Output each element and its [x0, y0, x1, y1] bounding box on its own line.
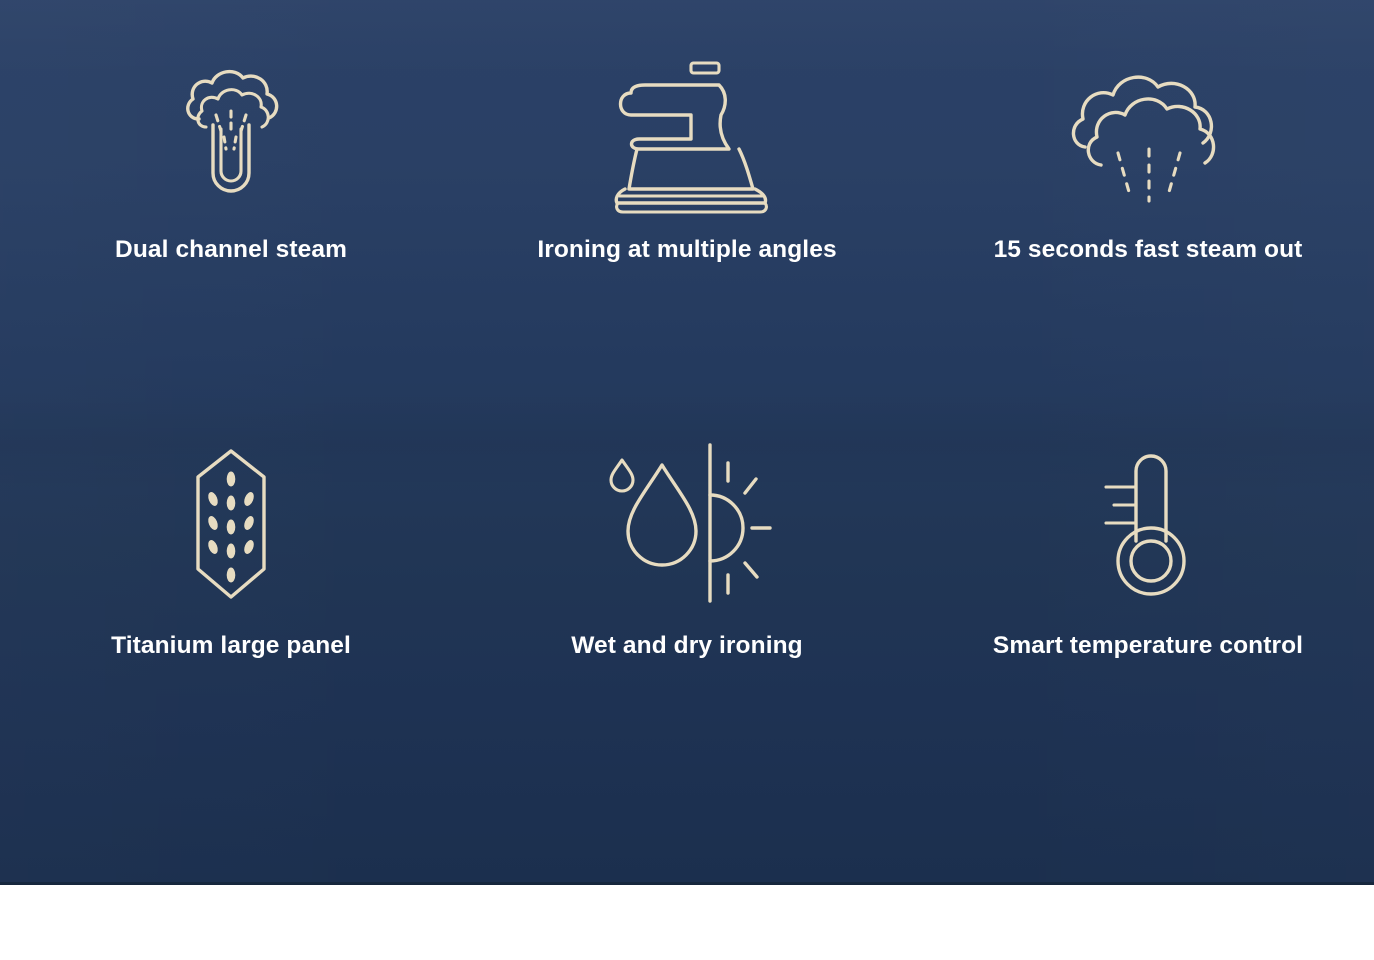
- thermometer-icon: [1048, 440, 1248, 610]
- bottom-white-strip: [0, 885, 1374, 960]
- feature-label: Dual channel steam: [115, 236, 347, 264]
- feature-item-titanium-large-panel[interactable]: Titanium large panel: [0, 440, 458, 832]
- feature-label: Ironing at multiple angles: [537, 236, 836, 264]
- feature-panel: Dual channel steam: [0, 0, 1374, 885]
- steam-head-icon: [131, 48, 331, 218]
- droplet-sun-icon: [587, 440, 787, 610]
- feature-item-ironing-multiple-angles[interactable]: Ironing at multiple angles: [458, 48, 916, 440]
- feature-label: 15 seconds fast steam out: [994, 236, 1303, 264]
- feature-item-wet-and-dry-ironing[interactable]: Wet and dry ironing: [458, 440, 916, 832]
- feature-item-fast-steam-out[interactable]: 15 seconds fast steam out: [916, 48, 1374, 440]
- feature-item-smart-temperature-control[interactable]: Smart temperature control: [916, 440, 1374, 832]
- clothes-iron-icon: [587, 48, 787, 218]
- feature-item-dual-channel-steam[interactable]: Dual channel steam: [0, 48, 458, 440]
- soleplate-icon: [131, 440, 331, 610]
- steam-cloud-icon: [1048, 48, 1248, 218]
- feature-label: Wet and dry ironing: [571, 632, 802, 660]
- feature-label: Titanium large panel: [111, 632, 351, 660]
- feature-page: Dual channel steam: [0, 0, 1374, 960]
- feature-grid: Dual channel steam: [0, 0, 1374, 885]
- feature-label: Smart temperature control: [993, 632, 1303, 660]
